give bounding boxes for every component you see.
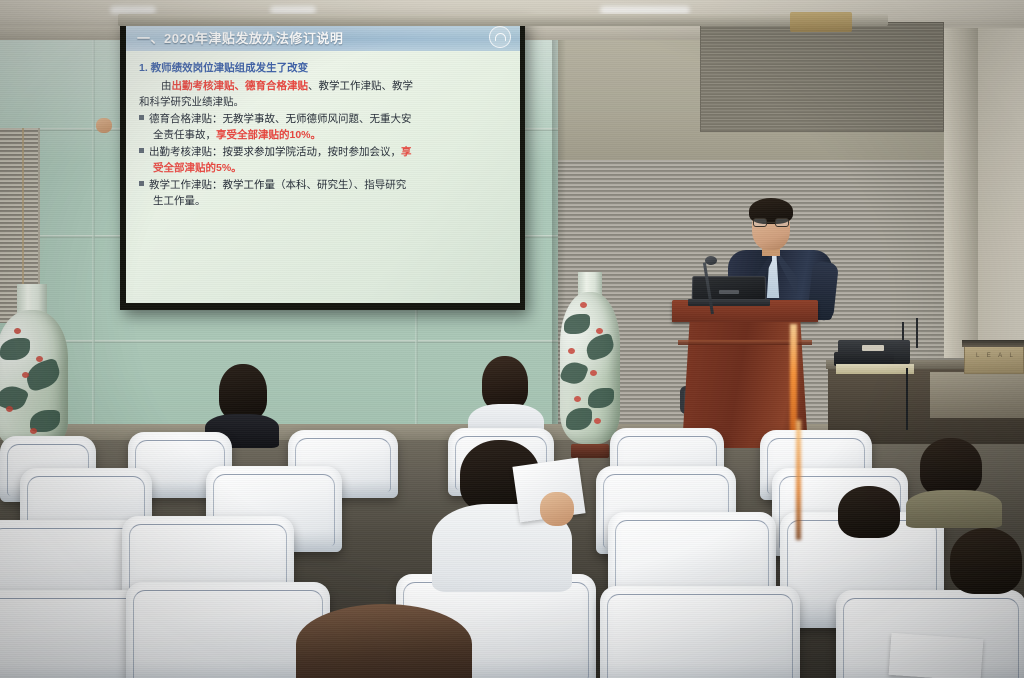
- person-hair: [219, 364, 267, 420]
- podium-edge-highlight-lower: [796, 420, 801, 540]
- slide-body: 1. 教师绩效岗位津贴组成发生了改变 由出勤考核津贴、德育合格津贴、教学工作津贴…: [126, 51, 520, 210]
- person-hair: [920, 438, 982, 496]
- person-hair: [482, 356, 528, 410]
- slide-text-red: 受全部津贴的5%。: [153, 162, 242, 174]
- glasses-icon: [753, 218, 789, 227]
- slide-line: 和科学研究业绩津贴。: [139, 94, 509, 111]
- slide-text: 生工作量。: [153, 195, 206, 207]
- side-counter: [930, 372, 1024, 418]
- slide-line: 生工作量。: [139, 193, 509, 210]
- presenter-hand: [96, 118, 112, 133]
- person-hair: [838, 486, 900, 538]
- document-sheet: [889, 633, 984, 678]
- screen-roller-bar: [118, 14, 888, 26]
- screen-roller-housing: [790, 12, 852, 32]
- ceiling-light: [600, 6, 690, 14]
- person-hair: [950, 528, 1022, 594]
- antenna: [916, 318, 918, 348]
- slide-text: 由: [161, 80, 172, 92]
- slide-line: 由出勤考核津贴、德育合格津贴、教学工作津贴、教学: [139, 78, 509, 95]
- slide-text: 德育合格津贴：无教学事故、无师德师风问题、无重大安: [149, 113, 412, 125]
- bullet-icon: [139, 148, 144, 153]
- slide-text: 教学工作津贴：教学工作量（本科、研究生）、指导研究: [149, 179, 406, 191]
- projection-screen: 一、2020年津贴发放办法修订说明 1. 教师绩效岗位津贴组成发生了改变 由出勤…: [120, 18, 525, 310]
- acoustic-panel: [700, 22, 944, 132]
- ceiling-light: [270, 6, 316, 14]
- document-stack: [836, 364, 914, 374]
- slide-line: 受全部津贴的5%。: [139, 160, 509, 177]
- ceiling-light: [110, 6, 156, 14]
- conference-room-scene: 一、2020年津贴发放办法修订说明 1. 教师绩效岗位津贴组成发生了改变 由出勤…: [0, 0, 1024, 678]
- wall-pillar-edge: [978, 28, 1024, 358]
- audience-person: [830, 486, 910, 556]
- person-hair: [296, 604, 472, 678]
- vase-base: [571, 444, 609, 458]
- hand-shape: [540, 492, 574, 526]
- slide-text: 全责任事故，: [153, 129, 216, 141]
- porcelain-vase-right: [560, 272, 620, 458]
- slide-bullet-line: 教学工作津贴：教学工作量（本科、研究生）、指导研究: [139, 177, 509, 194]
- cardboard-box-label: L E A L: [976, 353, 1016, 359]
- slide-text: 和科学研究业绩津贴。: [139, 96, 244, 108]
- cardboard-box-top: [962, 340, 1024, 347]
- person-shoulder: [906, 490, 1002, 528]
- university-emblem-icon: [489, 26, 511, 48]
- slide-title: 一、2020年津贴发放办法修订说明: [137, 28, 343, 47]
- audience-person: [906, 438, 1002, 524]
- slide-text: 出勤考核津贴：按要求参加学院活动，按时参加会议，: [149, 146, 401, 158]
- slide-bullet-line: 德育合格津贴：无教学事故、无师德师风问题、无重大安: [139, 111, 509, 128]
- slide-text-red: 出勤考核津贴、: [172, 80, 246, 92]
- receiver-label: [862, 345, 884, 351]
- cardboard-box: [964, 344, 1024, 374]
- bullet-icon: [139, 115, 144, 120]
- slide-text-red: 德育合格津贴: [245, 80, 308, 92]
- audience-person: [946, 528, 1024, 614]
- slide-surface: 一、2020年津贴发放办法修订说明 1. 教师绩效岗位津贴组成发生了改变 由出勤…: [126, 24, 520, 303]
- slide-line-lead: 1. 教师绩效岗位津贴组成发生了改变: [139, 60, 509, 77]
- slide-title-bar: 一、2020年津贴发放办法修订说明: [126, 24, 520, 51]
- microphone-head: [705, 256, 717, 265]
- slide-bullet-line: 出勤考核津贴：按要求参加学院活动，按时参加会议，享: [139, 144, 509, 161]
- audience-hand: [540, 492, 574, 526]
- audience-person-front: [296, 604, 472, 678]
- audience-chair: [600, 586, 800, 678]
- laptop: [688, 276, 770, 306]
- wall-pillar: [944, 28, 978, 358]
- bullet-icon: [139, 181, 144, 186]
- slide-text-red: 享: [401, 146, 412, 158]
- slide-text: 、教学工作津贴、教学: [308, 80, 413, 92]
- power-cable: [906, 368, 908, 430]
- slide-text-red: 享受全部津贴的10%。: [216, 129, 321, 141]
- slide-line: 全责任事故，享受全部津贴的10%。: [139, 127, 509, 144]
